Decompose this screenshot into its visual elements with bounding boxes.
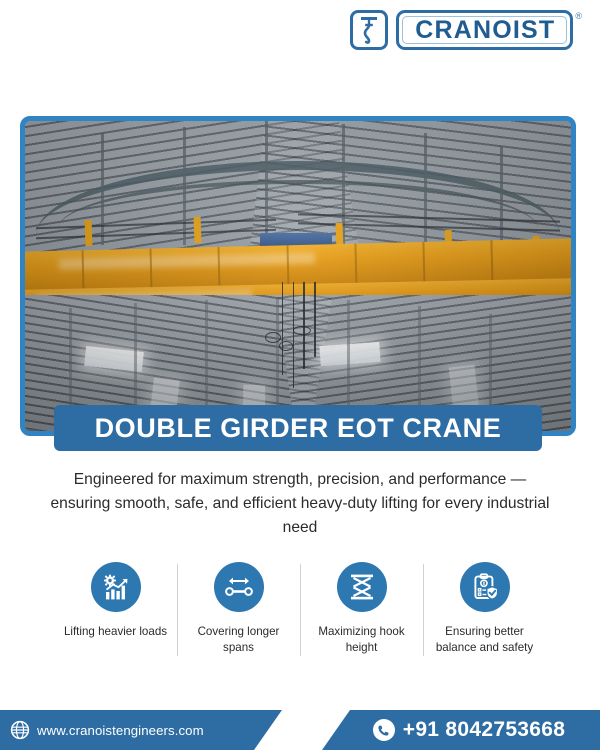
horizontal-span-arrow-icon <box>214 562 264 612</box>
crane-hook-icon <box>350 10 388 50</box>
feature-list: Lifting heavier loads Covering longer sp… <box>54 562 546 656</box>
logo-wordmark-group: CRANOIST ® <box>396 10 582 50</box>
globe-icon <box>10 720 30 740</box>
logo-wordmark-inner: CRANOIST <box>402 16 567 44</box>
feature-label: Ensuring better balance and safety <box>429 624 540 656</box>
footer-website-banner[interactable]: www.cranoistengineers.com <box>0 710 300 750</box>
phone-icon <box>373 719 395 741</box>
feature-label: Lifting heavier loads <box>64 624 167 640</box>
brand-logo[interactable]: CRANOIST ® <box>350 10 582 50</box>
footer-phone-banner[interactable]: +91 8042753668 <box>320 710 600 750</box>
logo-wordmark-frame: CRANOIST <box>396 10 573 50</box>
crane-photograph <box>25 121 571 431</box>
logo-wordmark-text: CRANOIST <box>415 18 555 43</box>
description-text: Engineered for maximum strength, precisi… <box>46 468 554 540</box>
feature-item-maximizing-hook-height: Maximizing hook height <box>300 562 423 656</box>
footer-bar: www.cranoistengineers.com +91 8042753668 <box>0 710 600 750</box>
feature-item-lifting-heavier-loads: Lifting heavier loads <box>54 562 177 656</box>
hero-photo-card <box>20 116 576 436</box>
registered-trademark-mark: ® <box>575 11 582 21</box>
growth-chart-gear-icon <box>91 562 141 612</box>
scissor-lift-height-icon <box>337 562 387 612</box>
header: CRANOIST ® <box>0 0 600 60</box>
hero-title-banner: DOUBLE GIRDER EOT CRANE <box>54 405 542 451</box>
clipboard-shield-checklist-icon <box>460 562 510 612</box>
feature-item-covering-longer-spans: Covering longer spans <box>177 562 300 656</box>
footer-website-text: www.cranoistengineers.com <box>37 723 204 738</box>
page-title: DOUBLE GIRDER EOT CRANE <box>95 413 502 444</box>
footer-phone-text: +91 8042753668 <box>403 718 565 742</box>
feature-label: Covering longer spans <box>183 624 294 656</box>
feature-label: Maximizing hook height <box>306 624 417 656</box>
feature-item-ensuring-better-balance-and-safety: Ensuring better balance and safety <box>423 562 546 656</box>
